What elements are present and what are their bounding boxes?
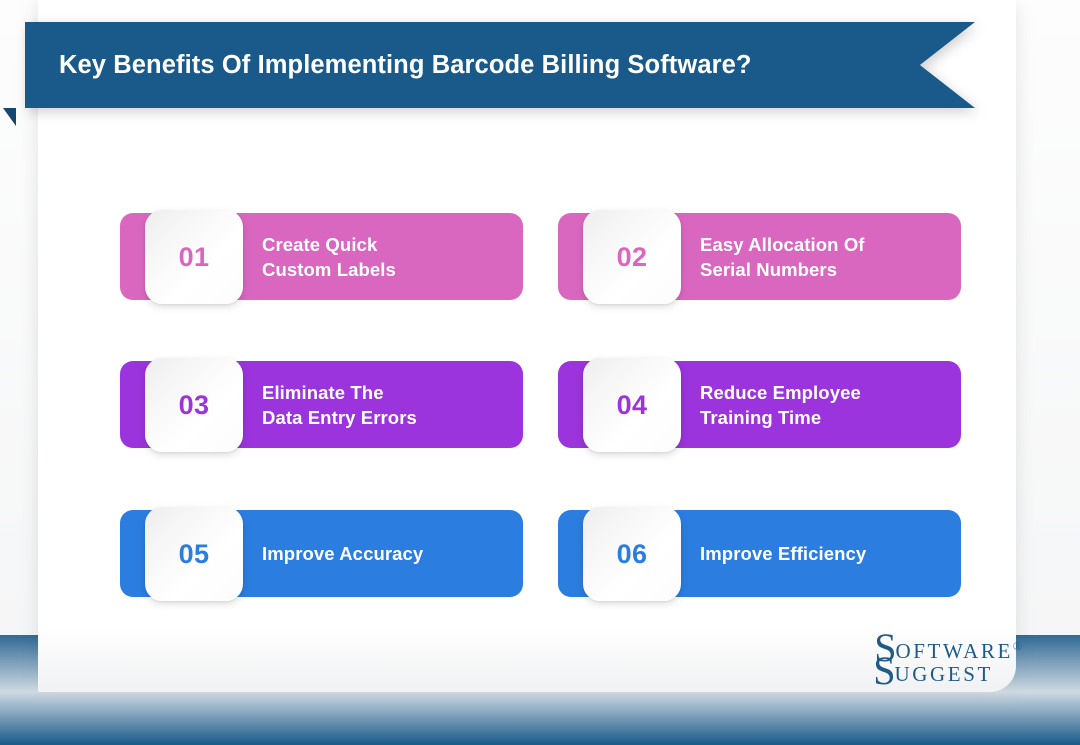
infographic-canvas: Key Benefits Of Implementing Barcode Bil… (0, 0, 1080, 745)
benefit-label-line1: Improve Efficiency (700, 541, 955, 566)
logo-line-1: S OFTWARE ® (874, 632, 1022, 664)
benefit-label-line1: Eliminate The (262, 380, 517, 405)
registered-trademark-icon: ® (1013, 641, 1022, 664)
benefit-number: 02 (617, 242, 648, 273)
benefits-row: 05 Improve Accuracy 06 Improve Efficienc… (120, 507, 960, 601)
benefit-label: Reduce Employee Training Time (700, 361, 955, 448)
benefits-row: 01 Create Quick Custom Labels 02 Easy Al… (120, 210, 960, 304)
benefit-card-04[interactable]: 04 Reduce Employee Training Time (558, 358, 961, 452)
benefit-label: Improve Accuracy (262, 510, 517, 597)
logo-initial-s-bottom: S (873, 655, 894, 687)
benefit-number: 05 (179, 539, 210, 570)
benefit-label-line1: Improve Accuracy (262, 541, 517, 566)
benefit-card-06[interactable]: 06 Improve Efficiency (558, 507, 961, 601)
logo-text-software: OFTWARE (896, 642, 1013, 664)
benefit-label: Improve Efficiency (700, 510, 955, 597)
logo-text-suggest: UGGEST (895, 665, 993, 687)
benefit-label-line2: Data Entry Errors (262, 405, 517, 430)
benefit-label-line2: Custom Labels (262, 257, 517, 282)
benefit-card-02[interactable]: 02 Easy Allocation Of Serial Numbers (558, 210, 961, 304)
ribbon-fold-decoration (3, 108, 16, 126)
benefit-number-chip: 02 (583, 210, 681, 304)
benefit-number-chip: 06 (583, 507, 681, 601)
softwaresuggest-logo: S OFTWARE ® S UGGEST (874, 632, 1022, 687)
benefit-number: 03 (179, 390, 210, 421)
benefit-label-line2: Training Time (700, 405, 955, 430)
benefit-label-line1: Create Quick (262, 232, 517, 257)
benefit-card-01[interactable]: 01 Create Quick Custom Labels (120, 210, 523, 304)
benefit-number-chip: 03 (145, 358, 243, 452)
benefit-label: Eliminate The Data Entry Errors (262, 361, 517, 448)
benefit-label: Easy Allocation Of Serial Numbers (700, 213, 955, 300)
benefit-number: 01 (179, 242, 210, 273)
benefit-label-line1: Reduce Employee (700, 380, 955, 405)
benefits-row: 03 Eliminate The Data Entry Errors 04 Re… (120, 358, 960, 452)
benefit-label-line1: Easy Allocation Of (700, 232, 955, 257)
benefit-number-chip: 05 (145, 507, 243, 601)
benefit-number: 06 (617, 539, 648, 570)
benefit-number-chip: 04 (583, 358, 681, 452)
benefits-grid: 01 Create Quick Custom Labels 02 Easy Al… (120, 207, 960, 597)
benefit-number: 04 (617, 390, 648, 421)
page-title: Key Benefits Of Implementing Barcode Bil… (59, 22, 752, 108)
benefit-label-line2: Serial Numbers (700, 257, 955, 282)
benefit-number-chip: 01 (145, 210, 243, 304)
header-ribbon: Key Benefits Of Implementing Barcode Bil… (25, 22, 975, 108)
benefit-card-03[interactable]: 03 Eliminate The Data Entry Errors (120, 358, 523, 452)
benefit-card-05[interactable]: 05 Improve Accuracy (120, 507, 523, 601)
benefit-label: Create Quick Custom Labels (262, 213, 517, 300)
